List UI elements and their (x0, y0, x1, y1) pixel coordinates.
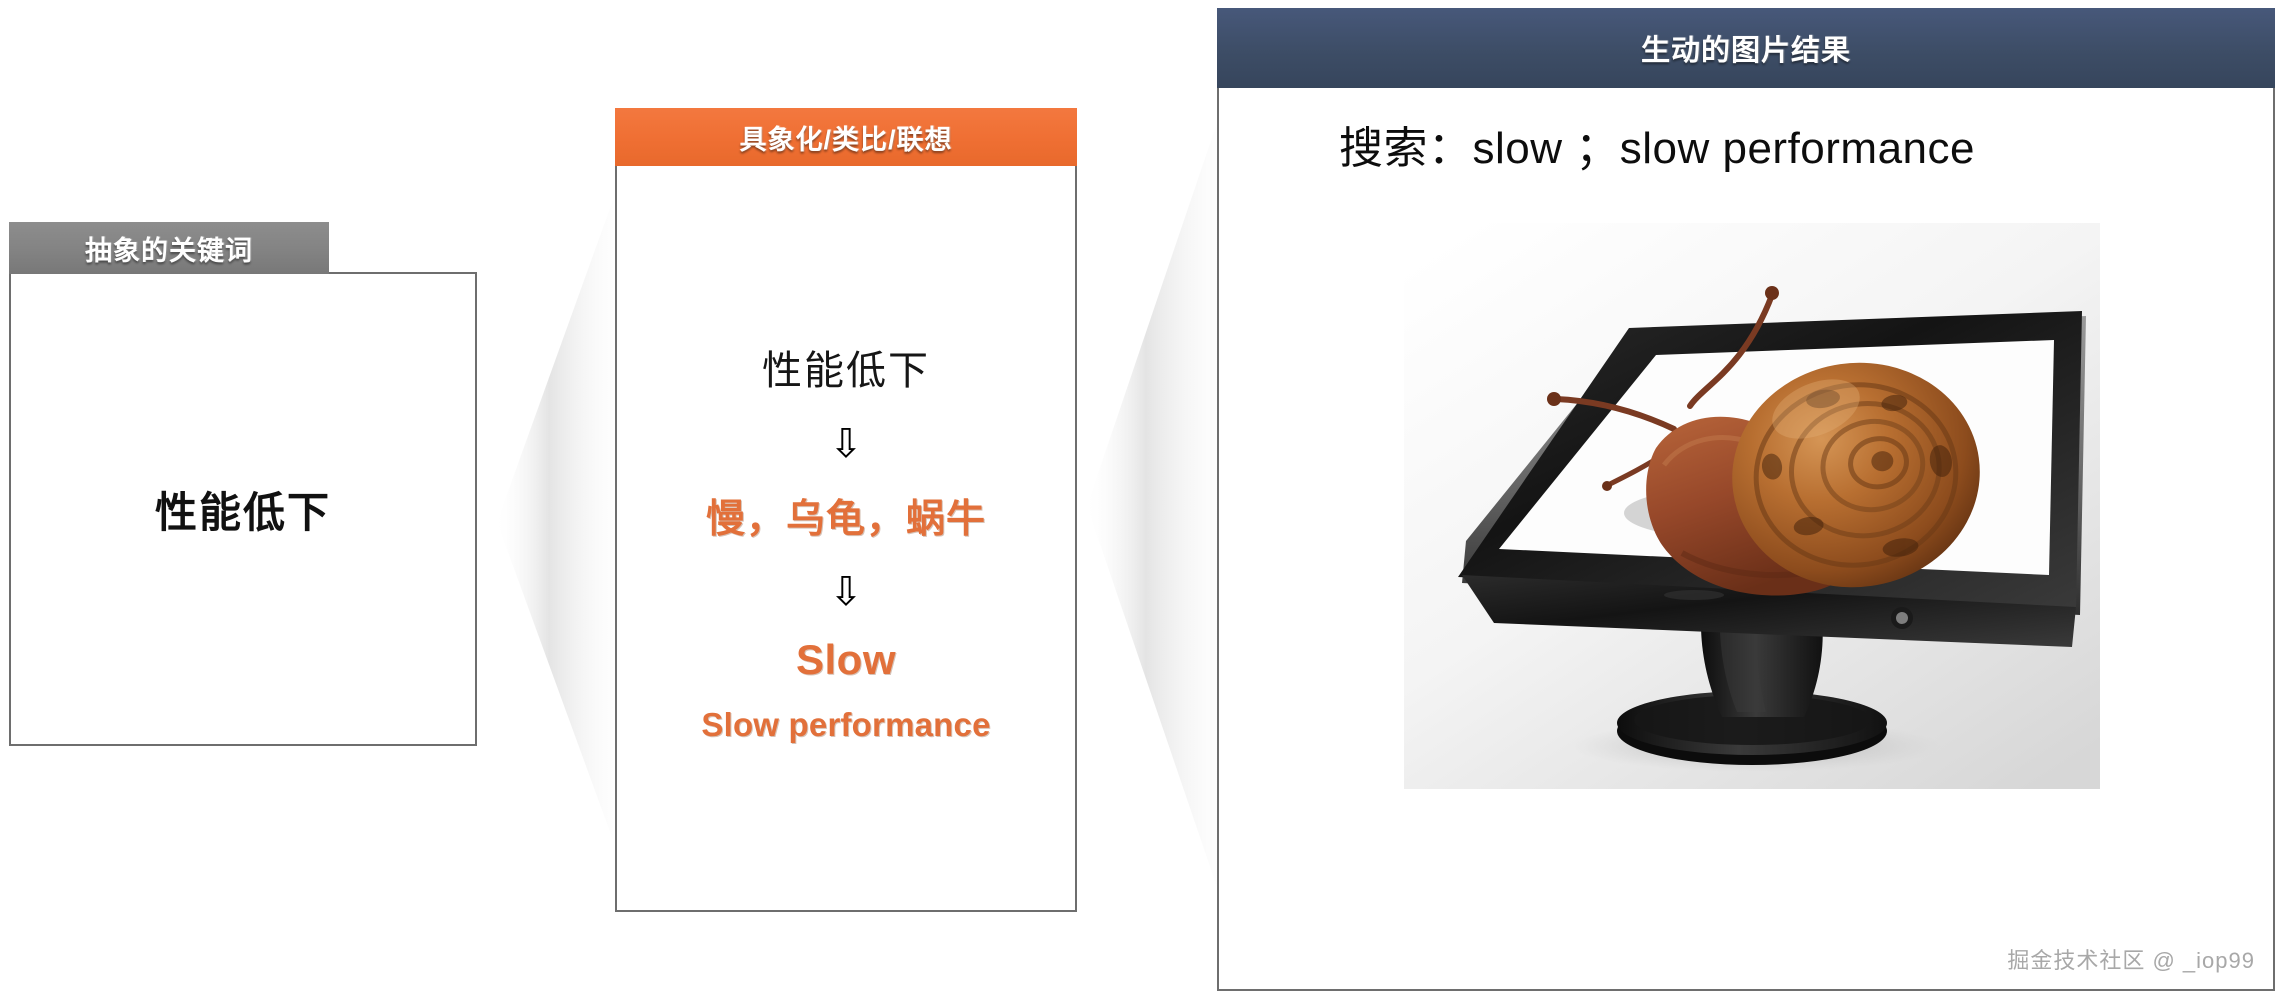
concretize-line-phrase-en: Slow performance (701, 706, 990, 744)
snail-monitor-photo (1404, 223, 2100, 789)
down-arrow-icon-1: ⇩ (829, 424, 863, 464)
abstract-keyword-header-label: 抽象的关键词 (85, 229, 253, 268)
concretize-header-label: 具象化/类比/联想 (739, 118, 952, 157)
concretize-line-keyword-en: Slow (796, 636, 896, 684)
concretize-panel-body: 性能低下 ⇩ 慢，乌龟，蜗牛 ⇩ Slow Slow performance (615, 164, 1077, 912)
search-query-text: 搜索：slow ；slow performance (1339, 112, 1975, 176)
concretize-line-abstract: 性能低下 (762, 338, 930, 396)
vivid-result-panel-body: 搜索：slow ；slow performance (1217, 85, 2275, 991)
concretize-panel-header: 具象化/类比/联想 (615, 108, 1077, 166)
concretize-content-stack: 性能低下 ⇩ 慢，乌龟，蜗牛 ⇩ Slow Slow performance (617, 166, 1075, 910)
vivid-result-panel-header: 生动的图片结果 (1217, 8, 2275, 88)
abstract-keyword-panel-body: 性能低下 (9, 272, 477, 746)
down-arrow-icon-2: ⇩ (829, 572, 863, 612)
chevron-middle-to-right-icon (1085, 110, 1220, 900)
concretize-line-analogies: 慢，乌龟，蜗牛 (706, 488, 986, 544)
vivid-result-header-label: 生动的图片结果 (1641, 27, 1851, 69)
abstract-keyword-panel-header: 抽象的关键词 (9, 222, 329, 274)
abstract-keyword-text: 性能低下 (11, 274, 475, 744)
chevron-left-to-middle-icon (495, 190, 615, 850)
watermark-text: 掘金技术社区 @ _iop99 (2007, 943, 2255, 975)
